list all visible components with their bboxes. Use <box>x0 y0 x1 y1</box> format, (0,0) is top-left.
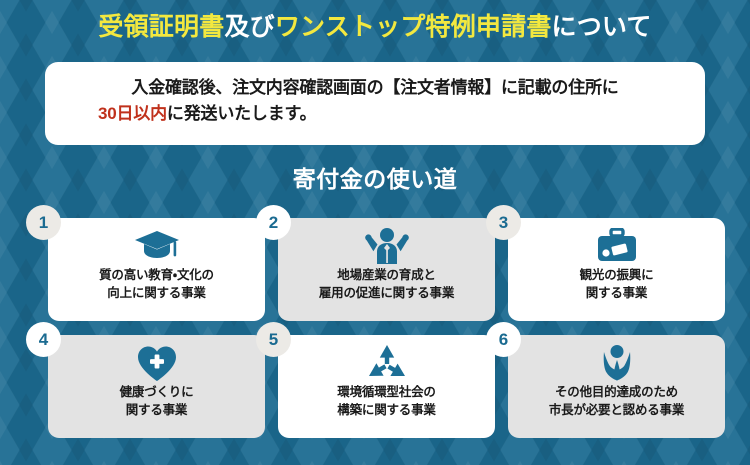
title-segment-3: ワンストップ特例申請書 <box>275 13 552 41</box>
title-segment-4: について <box>552 13 652 41</box>
usage-card-6[interactable]: 6 その他目的達成のため 市長が必要と認める事業 <box>508 335 725 438</box>
title-segment-2: 及び <box>224 13 274 41</box>
usage-card-label-line2: 関する事業 <box>126 402 188 420</box>
usage-card-label-line2: 関する事業 <box>586 285 648 303</box>
title-segment-1: 受領証明書 <box>98 13 224 41</box>
section-heading: 寄付金の使い道 <box>0 160 750 194</box>
usage-card-1[interactable]: 1 質の高い教育・文化の 向上に関する事業 <box>48 218 265 321</box>
usage-card-5[interactable]: 5 環境循環型社会の 構築に関する事業 <box>278 335 495 438</box>
notice-line-2: 30日以内に発送いたします。 <box>45 101 705 127</box>
card-number-badge: 1 <box>26 205 61 240</box>
usage-card-label-line2: 向上に関する事業 <box>107 285 205 303</box>
usage-card-4[interactable]: 4 健康づくりに 関する事業 <box>48 335 265 438</box>
person-raising-arms-icon <box>365 227 409 265</box>
card-number-badge: 2 <box>256 205 291 240</box>
usage-card-grid: 1 質の高い教育・文化の 向上に関する事業 2 <box>48 218 725 438</box>
card-number-badge: 3 <box>486 205 521 240</box>
page-title: 受領証明書及びワンストップ特例申請書について <box>0 12 750 42</box>
usage-card-label-line1: 質の高い教育・文化の <box>99 267 214 285</box>
notice-line-1: 入金確認後、注文内容確認画面の【注文者情報】に記載の住所に <box>45 75 705 101</box>
usage-card-label-line1: 観光の振興に <box>580 267 654 285</box>
notice-line-2-rest: に発送いたします。 <box>167 104 317 123</box>
usage-card-label-line1: 環境循環型社会の <box>337 384 435 402</box>
recycle-icon <box>366 344 408 382</box>
usage-card-label-line2: 雇用の促進に関する事業 <box>319 285 454 303</box>
person-open-arms-icon <box>597 344 637 382</box>
infographic-page: 受領証明書及びワンストップ特例申請書について 入金確認後、注文内容確認画面の【注… <box>0 0 750 465</box>
notice-card: 入金確認後、注文内容確認画面の【注文者情報】に記載の住所に 30日以内に発送いた… <box>45 62 705 145</box>
suitcase-icon <box>595 227 639 265</box>
heart-plus-icon <box>136 344 178 382</box>
graduation-cap-icon <box>134 227 180 265</box>
usage-card-label-line2: 市長が必要と認める事業 <box>549 402 684 420</box>
card-number-badge: 4 <box>26 322 61 357</box>
usage-card-label-line1: 地場産業の育成と <box>337 267 435 285</box>
usage-card-2[interactable]: 2 地場産業の育成と 雇用の促進に関する事業 <box>278 218 495 321</box>
card-number-badge: 5 <box>256 322 291 357</box>
page-title-text: 受領証明書及びワンストップ特例申請書について <box>0 12 750 42</box>
usage-card-label-line2: 構築に関する事業 <box>337 402 435 420</box>
usage-card-label-line1: その他目的達成のため <box>555 384 678 402</box>
card-number-badge: 6 <box>486 322 521 357</box>
usage-card-label-line1: 健康づくりに <box>120 384 194 402</box>
usage-card-3[interactable]: 3 観光の振興に 関する事業 <box>508 218 725 321</box>
notice-deadline-highlight: 30日以内 <box>98 104 167 123</box>
